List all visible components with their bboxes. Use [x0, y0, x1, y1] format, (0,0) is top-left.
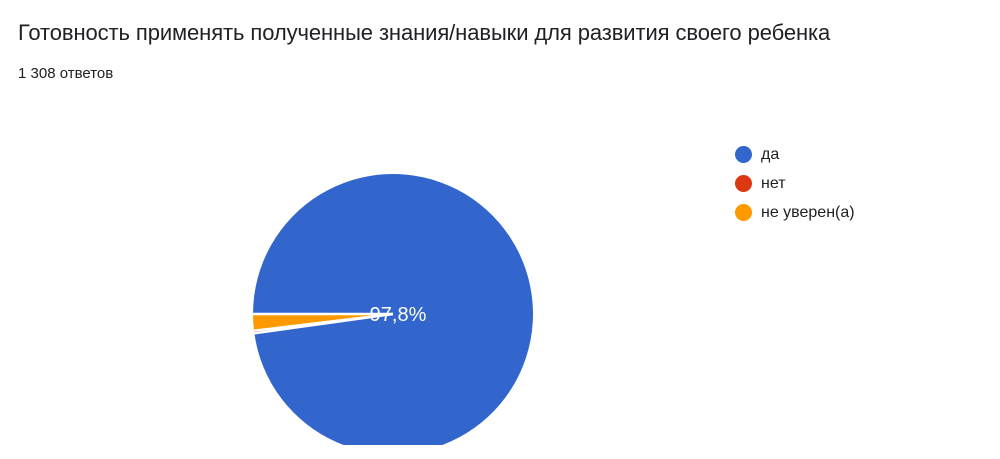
legend-item-net[interactable]: нет — [735, 169, 985, 198]
chart-page: Готовность применять полученные знания/н… — [0, 0, 1000, 459]
legend-dot-icon — [735, 146, 752, 163]
pie-chart: 97,8% — [233, 125, 553, 445]
legend-item-label: да — [761, 145, 779, 164]
plot-area: 97,8% да нет не уверен(а) — [0, 96, 1000, 459]
legend-item-da[interactable]: да — [735, 140, 985, 169]
response-count: 1 308 ответов — [18, 64, 113, 84]
legend-item-ne-uveren[interactable]: не уверен(а) — [735, 198, 985, 227]
page-title: Готовность применять полученные знания/н… — [18, 19, 978, 47]
legend: да нет не уверен(а) — [735, 140, 985, 227]
legend-item-label: нет — [761, 174, 786, 193]
legend-dot-icon — [735, 175, 752, 192]
legend-item-label: не уверен(а) — [761, 203, 855, 222]
legend-dot-icon — [735, 204, 752, 221]
pie-slice-value-label: 97,8% — [370, 304, 427, 326]
pie-chart-svg: 97,8% — [233, 125, 553, 445]
